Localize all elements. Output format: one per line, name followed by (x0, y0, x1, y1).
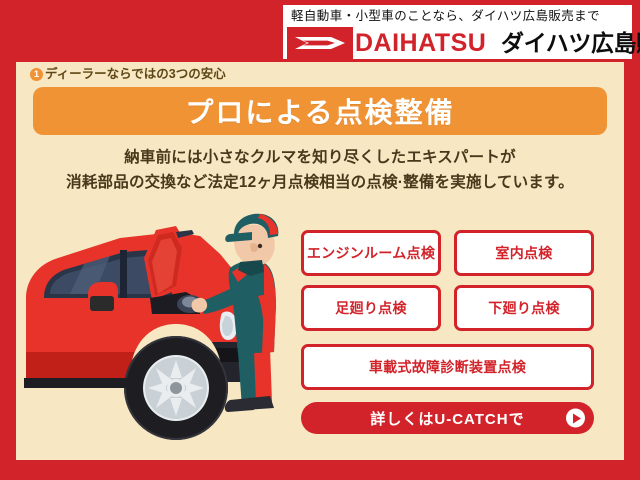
inspection-item-underbody[interactable]: 下廻り点検 (454, 285, 594, 331)
section-label-text: ディーラーならではの3つの安心 (45, 67, 226, 81)
page-title: プロによる点検整備 (185, 91, 454, 131)
advertisement-slide: 軽自動車・小型車のことなら、ダイハツ広島販売まで DAIHATSU ダイハツ広島… (0, 0, 640, 480)
brand-header-bar: 軽自動車・小型車のことなら、ダイハツ広島販売まで DAIHATSU ダイハツ広島… (0, 0, 640, 62)
inspection-item-interior[interactable]: 室内点検 (454, 230, 594, 276)
brand-name-latin: DAIHATSU (355, 27, 486, 59)
brand-name-japanese: ダイハツ広島販売 (501, 28, 640, 59)
inspection-item-label: 室内点検 (495, 243, 552, 263)
section-title-banner: プロによる点検整備 (33, 87, 607, 135)
inspection-item-label: 車載式故障診断装置点検 (369, 357, 526, 377)
section-label: 1ディーラーならではの3つの安心 (30, 65, 226, 83)
lead-paragraph: 納車前には小さなクルマを知り尽くしたエキスパートが 消耗部品の交換など法定12ヶ… (16, 146, 624, 196)
brand-logo-row: DAIHATSU ダイハツ広島販売 (283, 27, 632, 59)
inspection-item-label: 下廻り点検 (488, 298, 560, 318)
daihatsu-d-mark-icon (287, 27, 353, 59)
u-catch-cta-button[interactable]: 詳しくはU-CATCHで (301, 402, 594, 434)
lead-line-1: 納車前には小さなクルマを知り尽くしたエキスパートが (16, 146, 624, 170)
content-panel: 1ディーラーならではの3つの安心 プロによる点検整備 納車前には小さなクルマを知… (16, 62, 624, 460)
brand-logo-block: 軽自動車・小型車のことなら、ダイハツ広島販売まで DAIHATSU ダイハツ広島… (283, 5, 632, 59)
brand-tagline: 軽自動車・小型車のことなら、ダイハツ広島販売まで (291, 7, 625, 26)
inspection-item-obd-diagnostics[interactable]: 車載式故障診断装置点検 (301, 344, 594, 390)
mechanic-inspecting-red-car-illustration (24, 202, 304, 454)
u-catch-cta-label: 詳しくはU-CATCHで (370, 408, 524, 429)
inspection-item-engine-room[interactable]: エンジンルーム点検 (301, 230, 441, 276)
inspection-items-group: エンジンルーム点検 室内点検 足廻り点検 下廻り点検 車載式故障診断装置点検 (301, 230, 609, 390)
inspection-item-label: 足廻り点検 (335, 298, 407, 318)
play-arrow-icon (566, 409, 585, 428)
inspection-item-suspension[interactable]: 足廻り点検 (301, 285, 441, 331)
section-number-badge: 1 (30, 68, 43, 81)
lead-line-2: 消耗部品の交換など法定12ヶ月点検相当の点検·整備を実施しています。 (16, 170, 624, 196)
inspection-item-label: エンジンルーム点検 (307, 243, 435, 263)
